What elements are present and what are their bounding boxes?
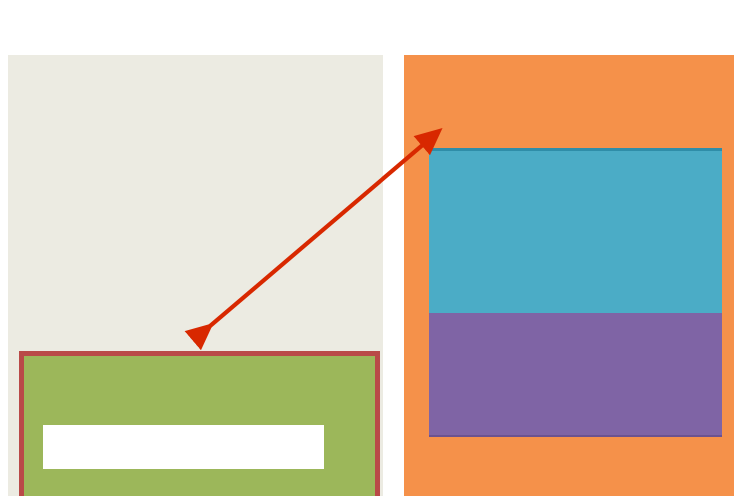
annotation-note-box	[43, 425, 324, 469]
super-member-region	[429, 148, 722, 313]
stack-frame-box	[19, 351, 380, 496]
this-member-region	[429, 313, 722, 437]
heap-memory-panel	[404, 55, 734, 496]
stack-memory-panel	[8, 55, 383, 496]
diagram-canvas	[0, 0, 735, 496]
